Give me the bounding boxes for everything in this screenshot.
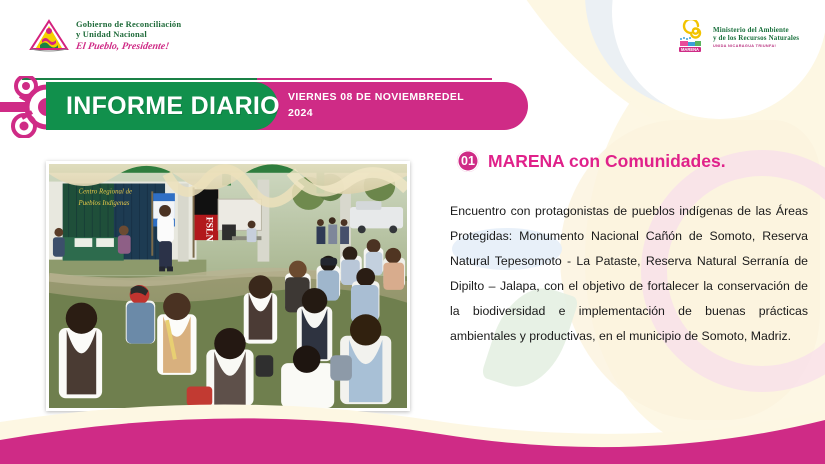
header: Gobierno de Reconciliación y Unidad Naci… — [0, 0, 825, 72]
svg-text:FSLN: FSLN — [203, 217, 214, 242]
section-title: MARENA con Comunidades. — [488, 151, 726, 172]
svg-text:MARENA: MARENA — [681, 47, 699, 52]
divider-pink-segment — [257, 78, 492, 80]
section-number-badge: 01 — [457, 150, 479, 172]
ministry-logo: MARENA Ministerio del Ambiente y de los … — [676, 20, 799, 54]
community-meeting-photo: Centro Regional de Pueblos Indígenas — [49, 164, 407, 408]
section-heading: 01 MARENA con Comunidades. — [457, 150, 726, 172]
government-logo: Gobierno de Reconciliación y Unidad Naci… — [28, 18, 181, 54]
ministry-logo-subtext: UNIDA NICARAGUA TRIUNFA! — [713, 44, 799, 49]
ministry-logo-line2: y de los Recursos Naturales — [713, 34, 799, 42]
nicaragua-volcano-emblem-icon — [28, 18, 70, 54]
marena-spiral-sun-icon: MARENA — [676, 20, 708, 54]
header-divider — [22, 78, 492, 81]
government-logo-slogan: El Pueblo, Presidente! — [75, 41, 182, 53]
government-logo-line2: y Unidad Nacional — [76, 30, 181, 40]
title-banner: INFORME DIARIO VIERNES 08 DE NOVIEMBREDE… — [0, 82, 528, 130]
ministry-logo-line1: Ministerio del Ambiente — [713, 26, 799, 34]
banner-date-line2: 2024 — [288, 106, 498, 122]
section-body-text: Encuentro con protagonistas de pueblos i… — [450, 199, 808, 349]
banner-title: INFORME DIARIO — [66, 82, 280, 130]
svg-text:Pueblos Indígenas: Pueblos Indígenas — [78, 200, 130, 207]
svg-text:Centro Regional de: Centro Regional de — [79, 188, 133, 195]
bottom-wave-decoration — [0, 374, 825, 464]
informe-diario-slide: Gobierno de Reconciliación y Unidad Naci… — [0, 0, 825, 464]
banner-date: VIERNES 08 DE NOVIEMBREDEL 2024 — [288, 82, 498, 130]
banner-date-line1: VIERNES 08 DE NOVIEMBREDEL — [288, 90, 498, 106]
